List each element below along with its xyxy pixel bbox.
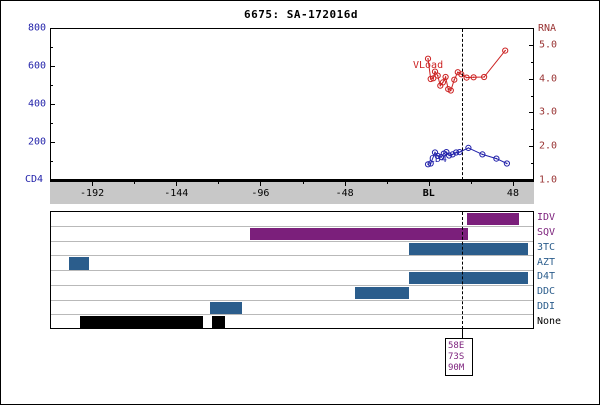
mutation-item: 58E <box>448 341 472 352</box>
y-minor-tick-right <box>531 163 534 164</box>
x-tick <box>176 181 177 186</box>
y-tick-label-right: 1.0 <box>539 175 557 186</box>
x-tick <box>260 181 261 186</box>
x-tick-label: -192 <box>80 188 104 199</box>
drug-label-idv: IDV <box>537 212 555 223</box>
mutation-connector <box>462 329 463 338</box>
drug-label-d4t: D4T <box>537 271 555 282</box>
x-tick-label: -144 <box>164 188 188 199</box>
y-minor-tick-right <box>531 62 534 63</box>
y-tick-label-left: 200 <box>28 137 46 148</box>
x-minor-tick <box>387 181 388 184</box>
x-tick-label: -96 <box>251 188 269 199</box>
drug-label-azt: AZT <box>537 257 555 268</box>
x-tick-label: -48 <box>336 188 354 199</box>
drug-label-none: None <box>537 316 561 327</box>
y-tick-label-right: 5.0 <box>539 39 557 50</box>
y-tick-right <box>529 79 534 80</box>
y-minor-tick-right <box>531 129 534 130</box>
y-tick-right <box>529 45 534 46</box>
page-title: 6675: SA-172016d <box>1 8 600 21</box>
y-tick-label-right: 3.0 <box>539 107 557 118</box>
y-tick-left <box>50 180 55 181</box>
x-tick <box>345 181 346 186</box>
chart-canvas: 6675: SA-172016d RNA CD4 VLoad CD4 -192-… <box>0 0 600 405</box>
drug-label-ddc: DDC <box>537 286 555 297</box>
y-tick-label-left: 600 <box>28 61 46 72</box>
x-axis-ticks: -192-144-96-48BL48 <box>50 181 534 204</box>
x-minor-tick <box>303 181 304 184</box>
drug-row-labels: IDVSQV3TCAZTD4TDDCDDINone <box>1 211 600 329</box>
mutation-item: 73S <box>448 352 472 363</box>
y-tick-right <box>529 112 534 113</box>
x-tick-label: 48 <box>507 188 519 199</box>
mutation-box: 58E73S90M <box>445 338 473 376</box>
mutation-item: 90M <box>448 363 472 374</box>
y-axis-right-ticks: 1.02.03.04.05.0 <box>50 28 534 180</box>
y-minor-tick-right <box>531 96 534 97</box>
drug-label-ddi: DDI <box>537 301 555 312</box>
drug-label-sqv: SQV <box>537 227 555 238</box>
axis-label-cd4: CD4 <box>25 174 43 185</box>
x-tick <box>513 181 514 186</box>
drug-label-3tc: 3TC <box>537 242 555 253</box>
y-tick-label-left: 800 <box>28 23 46 34</box>
x-minor-tick <box>471 181 472 184</box>
axis-label-rna: RNA <box>538 23 556 34</box>
y-tick-right <box>529 180 534 181</box>
y-tick-right <box>529 146 534 147</box>
y-tick-label-right: 4.0 <box>539 73 557 84</box>
x-minor-tick <box>218 181 219 184</box>
x-tick <box>92 181 93 186</box>
x-tick <box>429 181 430 186</box>
y-tick-label-right: 2.0 <box>539 141 557 152</box>
x-minor-tick <box>134 181 135 184</box>
y-tick-label-left: 400 <box>28 99 46 110</box>
x-tick-label: BL <box>423 188 435 199</box>
